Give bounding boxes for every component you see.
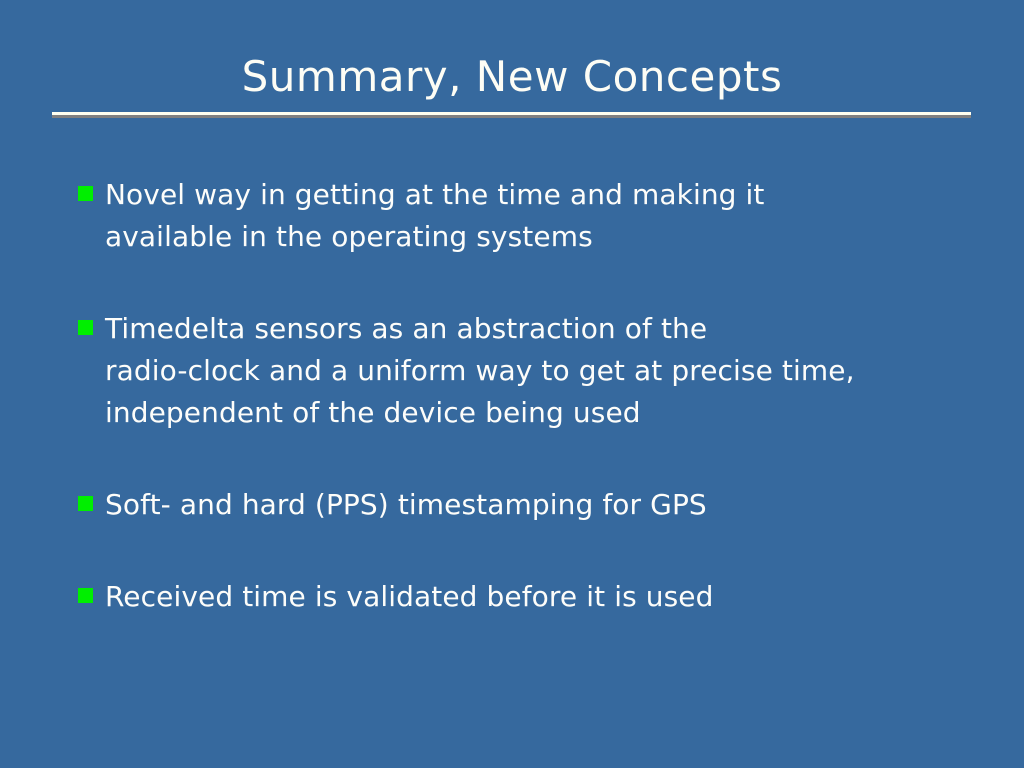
page-title: Summary, New Concepts [0, 50, 1024, 104]
list-item: Novel way in getting at the time and mak… [78, 174, 968, 258]
divider-shadow-line [52, 115, 971, 118]
list-item-text: Timedelta sensors as an abstraction of t… [105, 308, 968, 434]
square-bullet-icon [78, 320, 93, 335]
list-item: Soft- and hard (PPS) timestamping for GP… [78, 484, 968, 526]
square-bullet-icon [78, 496, 93, 511]
list-item-text: Received time is validated before it is … [105, 576, 968, 618]
bullet-list: Novel way in getting at the time and mak… [78, 174, 968, 618]
square-bullet-icon [78, 186, 93, 201]
list-item: Timedelta sensors as an abstraction of t… [78, 308, 968, 434]
presentation-slide: Summary, New Concepts Novel way in getti… [0, 0, 1024, 768]
list-item-text: Novel way in getting at the time and mak… [105, 174, 968, 258]
list-item-text: Soft- and hard (PPS) timestamping for GP… [105, 484, 968, 526]
list-item: Received time is validated before it is … [78, 576, 968, 618]
square-bullet-icon [78, 588, 93, 603]
title-divider [52, 112, 971, 118]
